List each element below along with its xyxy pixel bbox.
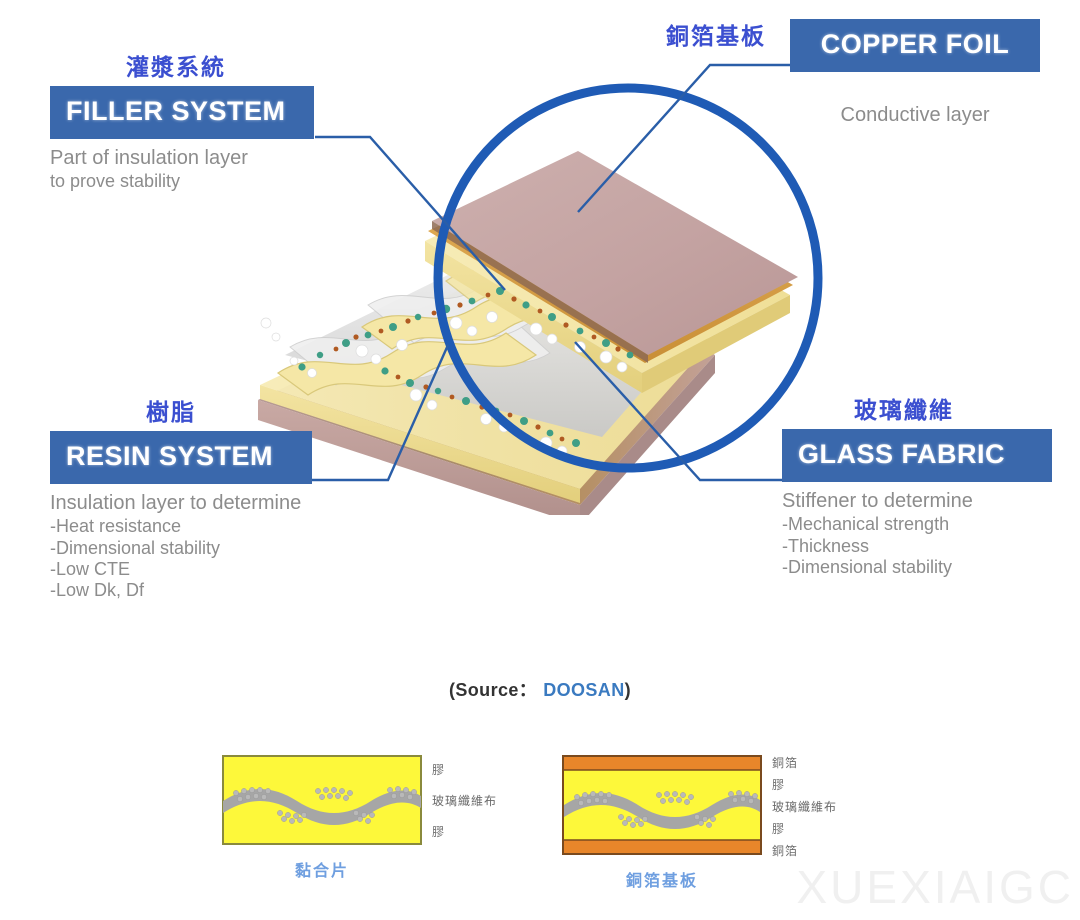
- callout-glass-desc-line-2: -Dimensional stability: [782, 557, 1052, 578]
- callout-filler-desc-main: Part of insulation layer: [50, 147, 248, 169]
- stack-ccl-legend-4: 銅箔: [772, 845, 798, 857]
- callout-filler-desc-line-0: to prove stability: [50, 171, 314, 192]
- stack-ccl-legend-0: 銅箔: [772, 757, 798, 769]
- stack-prepreg-legend-1: 玻璃纖維布: [432, 795, 497, 807]
- callout-resin-label[interactable]: RESIN SYSTEM: [50, 431, 312, 484]
- callout-glass-desc: Stiffener to determine -Mechanical stren…: [782, 489, 1052, 578]
- callout-resin-desc-main: Insulation layer to determine: [50, 492, 301, 514]
- callout-filler: 灌漿系統 FILLER SYSTEM Part of insulation la…: [50, 55, 314, 193]
- stack-prepreg-legend-0: 膠: [432, 764, 445, 776]
- callout-filler-label[interactable]: FILLER SYSTEM: [50, 86, 314, 139]
- stack-prepreg-legend-2: 膠: [432, 826, 445, 838]
- callout-glass-desc-line-0: -Mechanical strength: [782, 514, 1052, 535]
- diagram-canvas: 灌漿系統 FILLER SYSTEM Part of insulation la…: [0, 0, 1080, 920]
- stack-ccl-legend-3: 膠: [772, 823, 785, 835]
- callout-resin-desc-line-2: -Low CTE: [50, 559, 312, 580]
- callout-glass-desc-line-1: -Thickness: [782, 536, 1052, 557]
- callout-resin-desc-line-3: -Low Dk, Df: [50, 580, 312, 601]
- stack-ccl: 銅箔 膠 玻璃纖維布 膠 銅箔 銅箔基板: [562, 755, 762, 891]
- watermark: XUEXIAIGC: [796, 860, 1074, 914]
- stack-ccl-box: 銅箔 膠 玻璃纖維布 膠 銅箔: [562, 755, 762, 855]
- pcb-laminate-illustration: [250, 55, 840, 515]
- callout-resin-desc-line-0: -Heat resistance: [50, 516, 312, 537]
- source-attribution: (Source：DOOSAN): [0, 676, 1080, 702]
- callout-glass-cn: 玻璃纖維: [854, 398, 1052, 423]
- source-name: DOOSAN: [543, 680, 624, 700]
- callout-glass-label[interactable]: GLASS FABRIC: [782, 429, 1052, 482]
- stack-ccl-legend-2: 玻璃纖維布: [772, 801, 837, 813]
- callout-glass-desc-main: Stiffener to determine: [782, 490, 973, 512]
- callout-glass: 玻璃纖維 GLASS FABRIC Stiffener to determine…: [782, 398, 1052, 578]
- callout-copper-cn: 銅箔基板: [666, 24, 766, 49]
- callout-resin-desc-line-1: -Dimensional stability: [50, 538, 312, 559]
- stack-prepreg-caption: 黏合片: [222, 857, 422, 881]
- callout-resin: 樹脂 RESIN SYSTEM Insulation layer to dete…: [50, 400, 312, 601]
- source-prefix: (Source：: [449, 680, 537, 700]
- callout-copper-desc-main: Conductive layer: [790, 103, 1040, 128]
- stack-ccl-caption: 銅箔基板: [562, 867, 762, 891]
- stack-ccl-legend-1: 膠: [772, 779, 785, 791]
- callout-copper: 銅箔基板 COPPER FOIL Conductive layer: [666, 24, 766, 49]
- stack-prepreg: 膠 玻璃纖維布 膠 黏合片: [222, 755, 422, 881]
- callout-copper-label[interactable]: COPPER FOIL: [790, 19, 1040, 72]
- callout-resin-desc: Insulation layer to determine -Heat resi…: [50, 491, 312, 601]
- callout-filler-cn: 灌漿系統: [126, 55, 314, 80]
- callout-resin-cn: 樹脂: [146, 400, 312, 425]
- callout-filler-desc: Part of insulation layer to prove stabil…: [50, 146, 314, 192]
- stack-prepreg-box: 膠 玻璃纖維布 膠: [222, 755, 422, 845]
- source-suffix: ): [625, 680, 631, 700]
